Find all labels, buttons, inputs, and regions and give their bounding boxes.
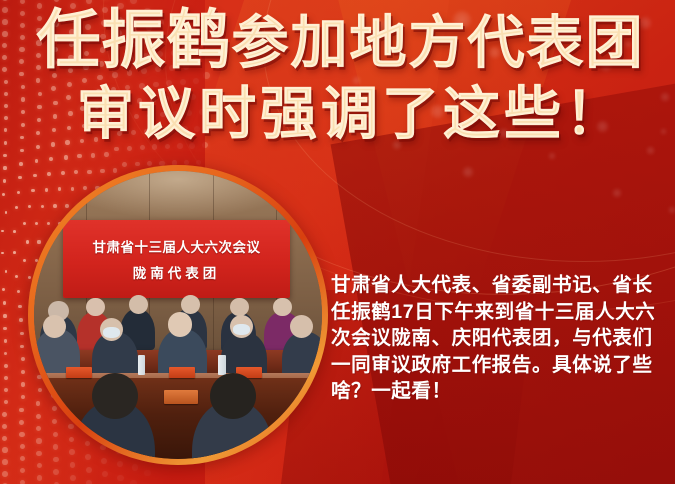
headline-line-2: 审议时强调了这些！ — [0, 86, 675, 143]
attendee-head — [129, 295, 148, 314]
attendee-head — [230, 298, 249, 317]
body-text-line: 任振鹤17日下午来到省十三届人大六 — [331, 299, 671, 326]
nameplate — [66, 367, 92, 379]
body-text-line: 甘肃省人大代表、省委副书记、省长 — [331, 272, 671, 299]
meeting-room-scene: 甘肃省十三届人大六次会议 陇南代表团 — [34, 171, 322, 459]
headline-line-1-rest: 参加地方代表团 — [232, 11, 645, 75]
ceiling-light-glow — [57, 171, 299, 219]
meeting-banner: 甘肃省十三届人大六次会议 陇南代表团 — [63, 220, 291, 298]
body-text-block: 甘肃省人大代表、省委副书记、省长 任振鹤17日下午来到省十三届人大六 次会议陇南… — [331, 272, 671, 405]
attendee-head — [273, 298, 292, 317]
circular-photo: 甘肃省十三届人大六次会议 陇南代表团 — [28, 165, 328, 465]
body-text-line: 啥？一起看！ — [331, 378, 671, 405]
attendee-head — [86, 298, 105, 317]
headline-line-1: 任振鹤参加地方代表团 — [0, 8, 675, 72]
speaker-head — [168, 312, 192, 336]
attendee-head — [181, 295, 200, 314]
meeting-banner-line-2: 陇南代表团 — [133, 262, 221, 282]
body-text-line: 次会议陇南、庆阳代表团，与代表们 — [331, 325, 671, 352]
nameplate — [169, 367, 195, 379]
water-bottle — [218, 355, 225, 375]
attendee-front — [282, 332, 322, 378]
attendee-head — [43, 315, 66, 338]
nameplate — [164, 390, 199, 404]
headline-name-emphasis: 任振鹤 — [37, 4, 232, 76]
foreground-attendee-head — [92, 373, 138, 419]
water-bottle — [138, 355, 145, 375]
photo-image-area: 甘肃省十三届人大六次会议 陇南代表团 — [34, 171, 322, 459]
headline-block: 任振鹤参加地方代表团 审议时强调了这些！ — [0, 8, 675, 143]
body-text-line: 一同审议政府工作报告。具体说了些 — [331, 352, 671, 379]
poster-container: 任振鹤参加地方代表团 审议时强调了这些！ 甘肃省十三届人大六次会议 陇南代表团 — [0, 0, 675, 484]
meeting-banner-line-1: 甘肃省十三届人大六次会议 — [93, 236, 261, 256]
foreground-attendee-head — [210, 373, 256, 419]
